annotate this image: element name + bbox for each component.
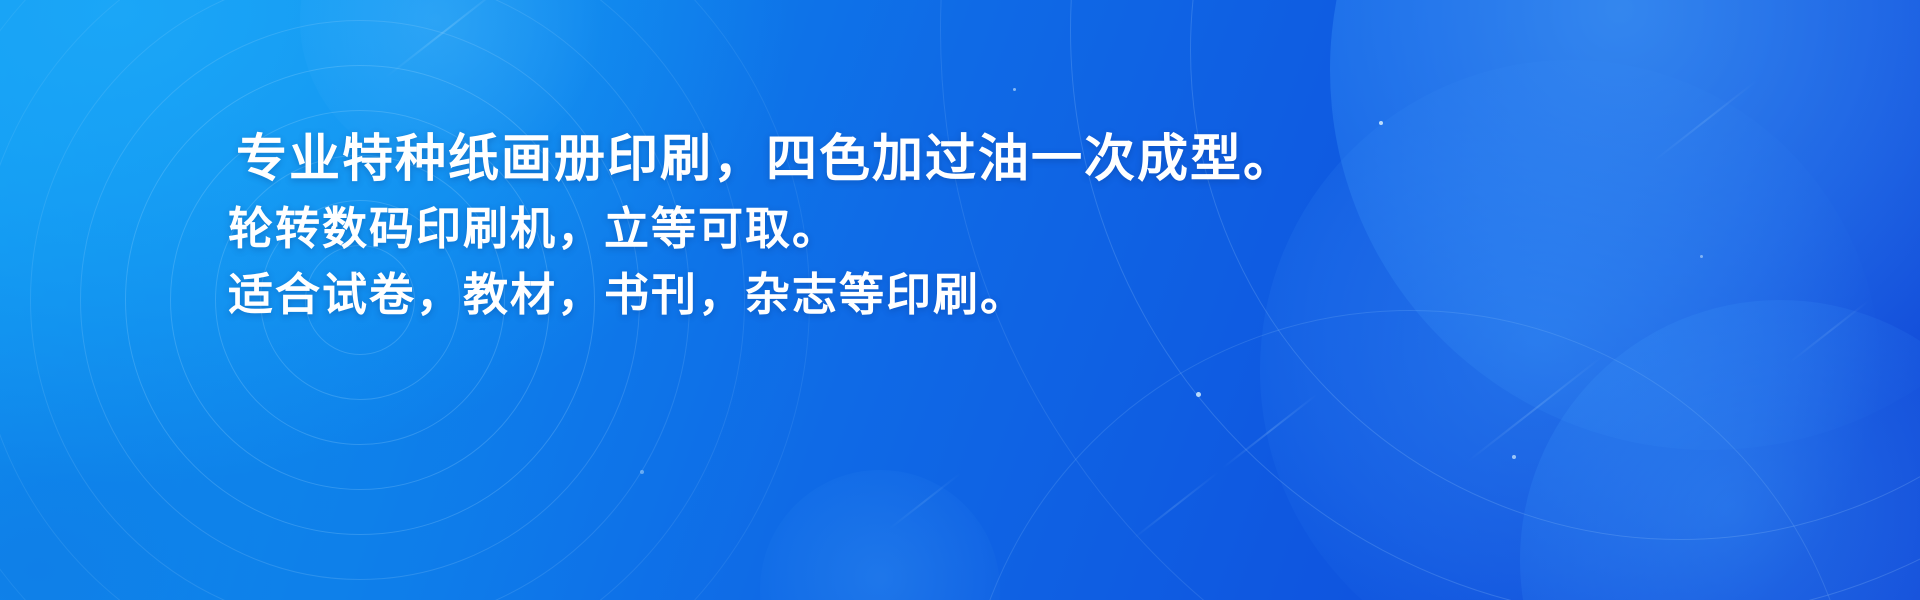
glow-circle-bottom-right-icon <box>1520 300 1920 600</box>
headline-line-3: 适合试卷，教材，书刊，杂志等印刷。 <box>228 262 1628 328</box>
glow-circle-bottom-center-icon <box>760 470 1000 600</box>
streak-3-icon <box>1467 356 1602 462</box>
particle-1-icon <box>1196 392 1201 397</box>
banner-text-block: 专业特种纸画册印刷，四色加过油一次成型。 轮转数码印刷机，立等可取。 适合试卷，… <box>228 122 1628 328</box>
streak-1-icon <box>385 0 504 78</box>
particle-5-icon <box>1700 255 1703 258</box>
streak-4-icon <box>1131 471 1219 540</box>
particle-6-icon <box>640 470 644 474</box>
sweep-curve-bottom-icon <box>960 310 1860 600</box>
particle-3-icon <box>1512 455 1516 459</box>
streak-7-icon <box>1790 299 1870 362</box>
particle-4-icon <box>1013 88 1016 91</box>
streak-5-icon <box>1653 80 1757 162</box>
headline-line-1: 专业特种纸画册印刷，四色加过油一次成型。 <box>236 122 1628 196</box>
streak-6-icon <box>889 473 961 530</box>
promo-banner: 专业特种纸画册印刷，四色加过油一次成型。 轮转数码印刷机，立等可取。 适合试卷，… <box>0 0 1920 600</box>
streak-2-icon <box>1222 393 1318 468</box>
headline-line-2: 轮转数码印刷机，立等可取。 <box>228 196 1628 262</box>
